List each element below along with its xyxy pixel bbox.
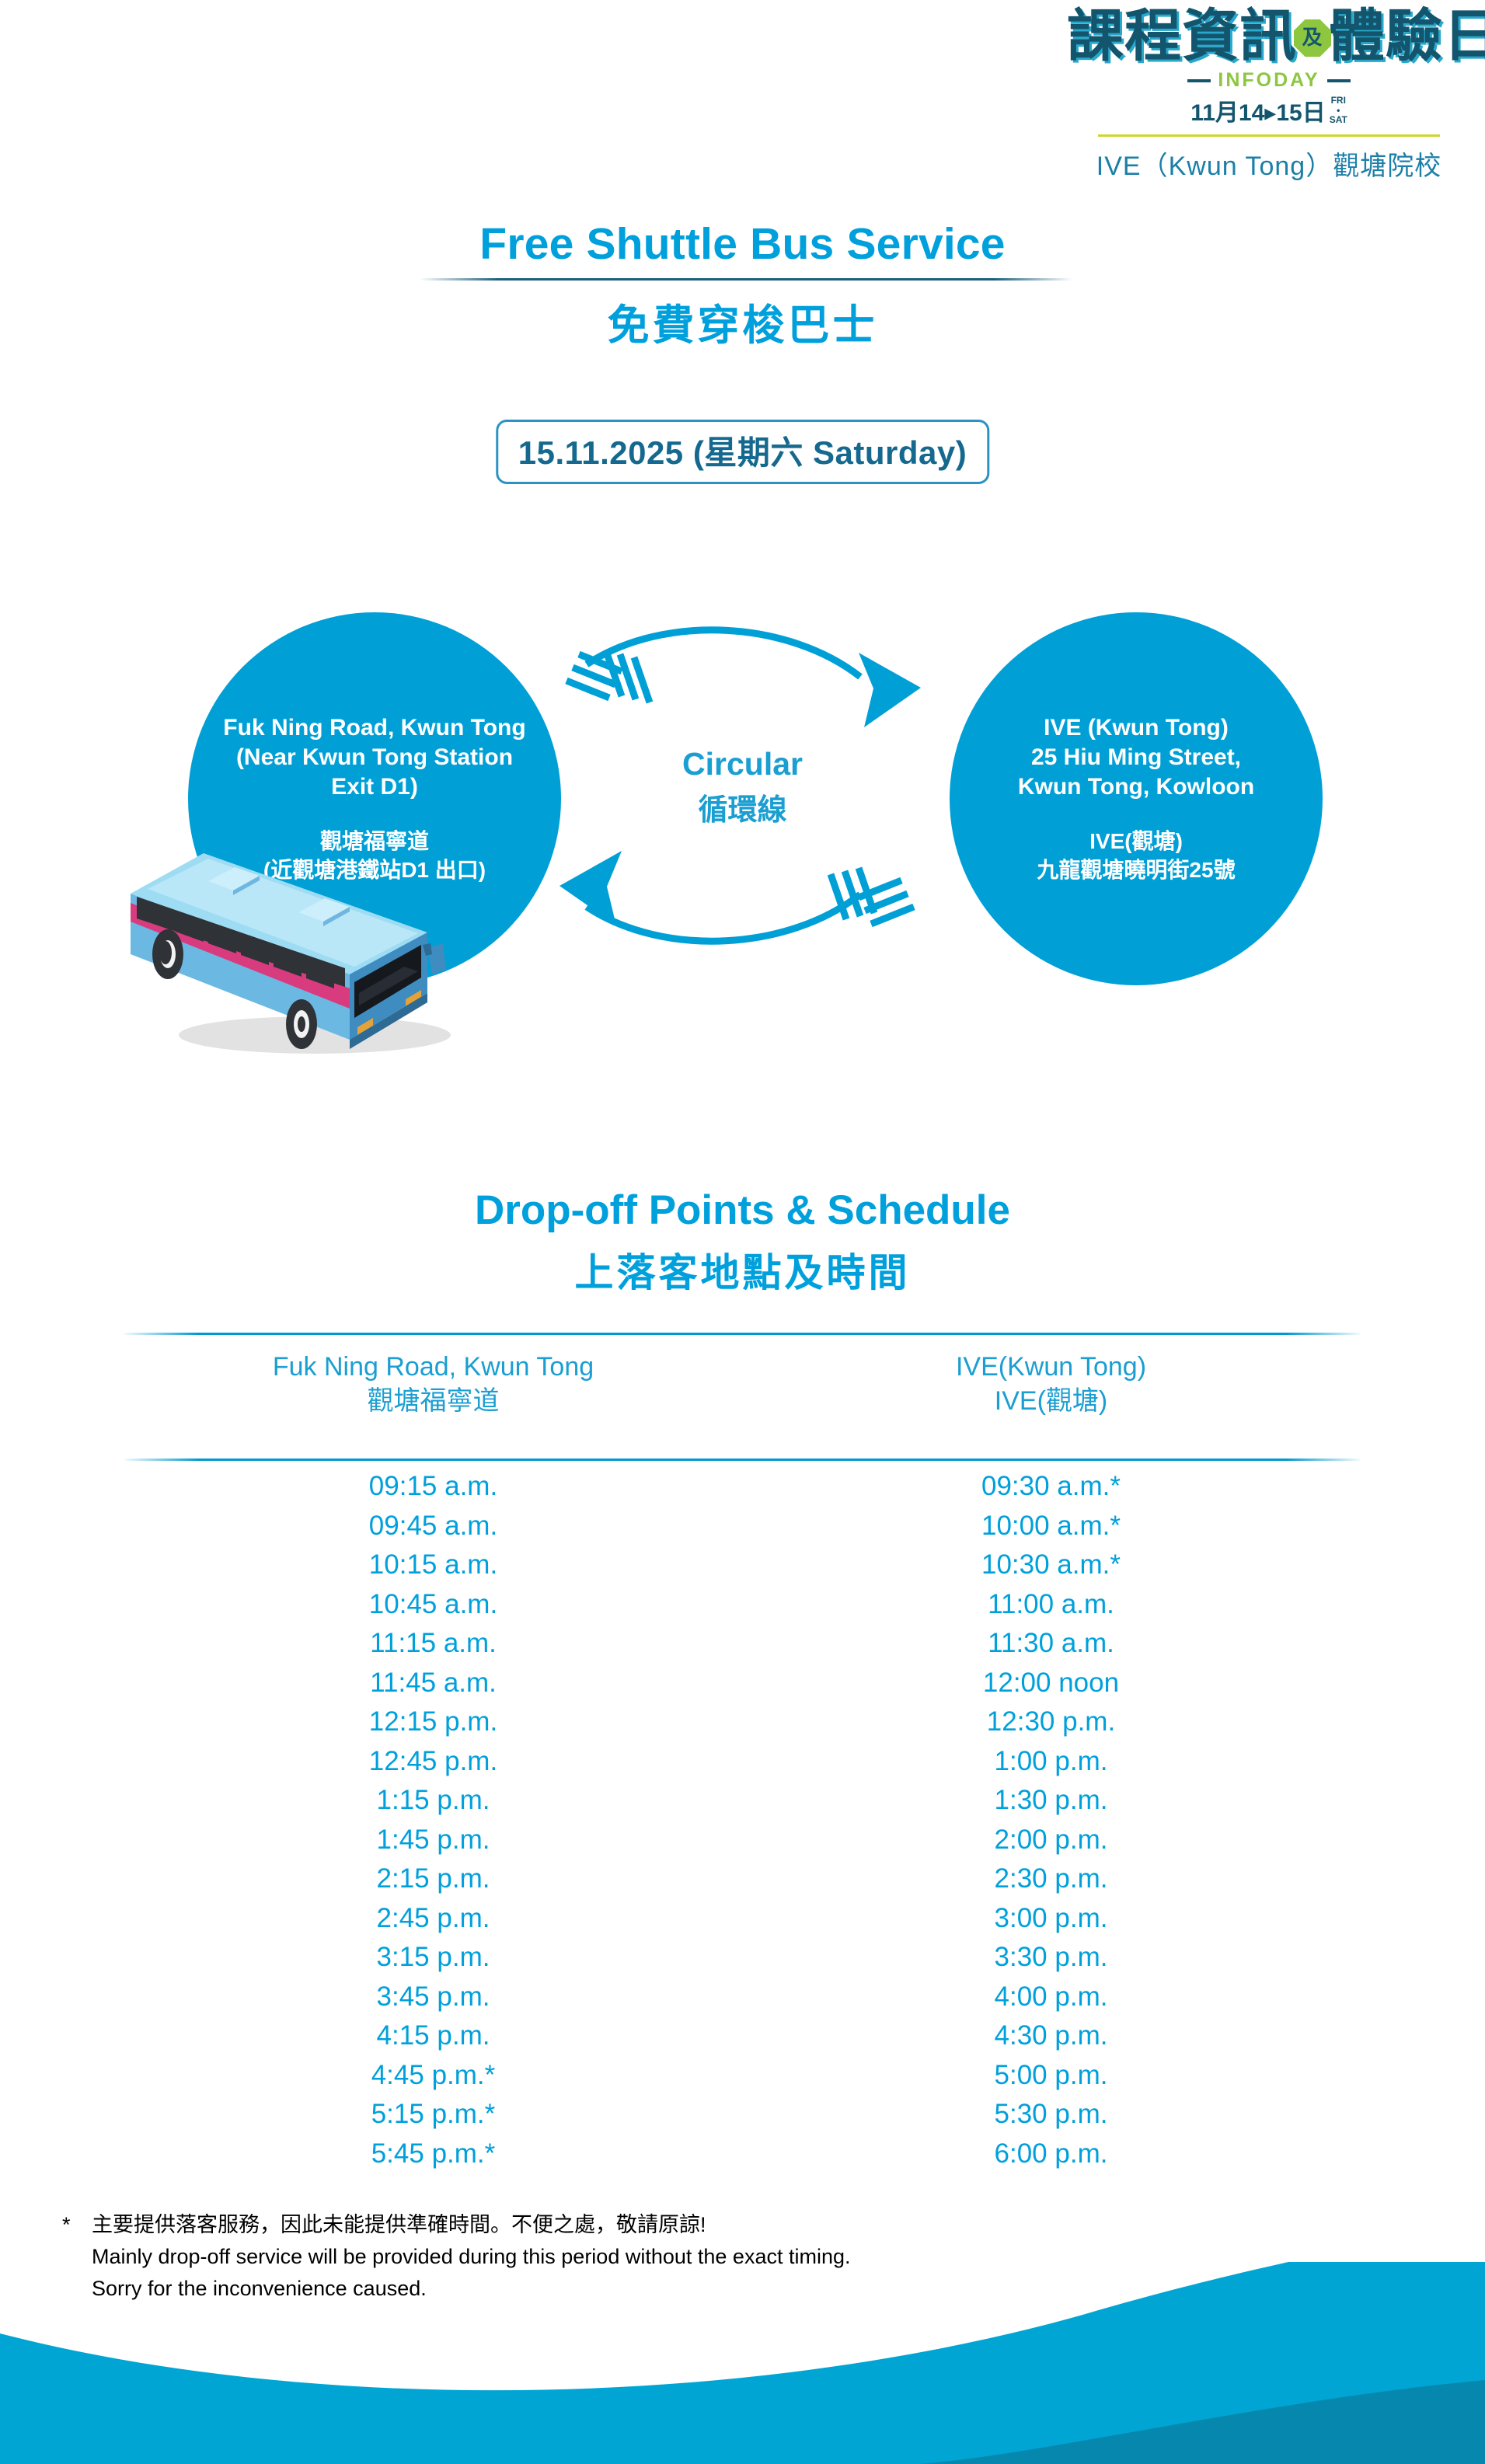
time-cell: 10:45 a.m. [124, 1585, 742, 1625]
logo-rule-right-icon [1327, 79, 1351, 82]
time-cell: 4:30 p.m. [742, 2016, 1360, 2056]
logo-dates-text: 11月14▸15日 [1190, 93, 1326, 127]
service-date-badge: 15.11.2025 (星期六 Saturday) [496, 420, 989, 484]
logo-day-abbrs: FRI • SAT [1330, 96, 1347, 125]
time-cell: 4:45 p.m.* [124, 2056, 742, 2096]
column-header-left-en: Fuk Ning Road, Kwun Tong [124, 1350, 742, 1385]
time-cell: 10:00 a.m.* [742, 1507, 1360, 1546]
time-cell: 4:15 p.m. [124, 2016, 742, 2056]
time-cell: 3:30 p.m. [742, 1938, 1360, 1978]
time-cell: 10:15 a.m. [124, 1546, 742, 1585]
stop-right-en-line1: IVE (Kwun Tong) [1018, 713, 1254, 743]
time-cell: 5:15 p.m.* [124, 2095, 742, 2135]
shuttle-bus-poster: 課程資訊及體驗日 INFODAY 11月14▸15日 FRI • SAT IVE… [0, 0, 1485, 2464]
arrow-clockwise-top-icon [566, 630, 921, 727]
page-title-english: Free Shuttle Bus Service [0, 218, 1485, 270]
column-header-left-cn: 觀塘福寧道 [124, 1385, 742, 1419]
campus-name: IVE（Kwun Tong）觀塘院校 [1067, 145, 1471, 183]
logo-day-fri: FRI [1330, 96, 1347, 106]
time-cell: 1:15 p.m. [124, 1781, 742, 1821]
time-cell: 5:30 p.m. [742, 2095, 1360, 2135]
time-cell: 1:30 p.m. [742, 1781, 1360, 1821]
time-cell: 2:15 p.m. [124, 1859, 742, 1899]
logo-title-left: 課程資訊 [1067, 3, 1297, 69]
column-header-fuk-ning-road: Fuk Ning Road, Kwun Tong 觀塘福寧道 [124, 1350, 742, 1418]
column-header-right-cn: IVE(觀塘) [742, 1385, 1360, 1419]
bus-illustration-icon [117, 802, 474, 1066]
schedule-title-chinese: 上落客地點及時間 [0, 1242, 1485, 1298]
schedule-table-header-rule [124, 1459, 1360, 1461]
time-cell: 3:00 p.m. [742, 1899, 1360, 1939]
time-cell: 09:45 a.m. [124, 1507, 742, 1546]
logo-infoday-text: INFODAY [1218, 69, 1319, 92]
logo-divider [1098, 134, 1440, 137]
time-cell: 12:30 p.m. [742, 1702, 1360, 1742]
schedule-table-top-rule [124, 1333, 1360, 1335]
time-cell: 10:30 a.m.* [742, 1546, 1360, 1585]
time-cell: 2:45 p.m. [124, 1899, 742, 1939]
logo-day-sat: SAT [1330, 115, 1347, 125]
time-cell: 09:15 a.m. [124, 1467, 742, 1507]
stop-right-chinese: IVE(觀塘) 九龍觀塘曉明街25號 [1037, 828, 1235, 884]
route-diagram: Fuk Ning Road, Kwun Tong (Near Kwun Tong… [0, 544, 1485, 1088]
time-cell: 09:30 a.m.* [742, 1467, 1360, 1507]
column-header-ive: IVE(Kwun Tong) IVE(觀塘) [742, 1350, 1360, 1418]
time-cell: 2:30 p.m. [742, 1859, 1360, 1899]
time-cell: 11:15 a.m. [124, 1624, 742, 1664]
time-cell: 4:00 p.m. [742, 1978, 1360, 2017]
stop-right-cn-line1: IVE(觀塘) [1037, 828, 1235, 856]
time-cell: 2:00 p.m. [742, 1821, 1360, 1860]
route-type-english: Circular [0, 746, 1485, 782]
time-cell: 6:00 p.m. [742, 2135, 1360, 2174]
time-cell: 3:45 p.m. [124, 1978, 742, 2017]
time-cell: 5:00 p.m. [742, 2056, 1360, 2096]
footnote-chinese: 主要提供落客服務，因此未能提供準確時間。不便之處，敬請原諒! [92, 2209, 850, 2241]
schedule-column-right: 09:30 a.m.* 10:00 a.m.* 10:30 a.m.* 11:0… [742, 1467, 1360, 2173]
arrow-clockwise-bottom-icon [559, 851, 914, 941]
logo-infoday-row: INFODAY [1067, 69, 1471, 92]
logo-rule-left-icon [1187, 79, 1211, 82]
schedule-title-english: Drop-off Points & Schedule [0, 1187, 1485, 1234]
time-cell: 3:15 p.m. [124, 1938, 742, 1978]
infoday-logo-block: 課程資訊及體驗日 INFODAY 11月14▸15日 FRI • SAT IVE… [1067, 8, 1471, 183]
logo-chinese-title: 課程資訊及體驗日 [1067, 8, 1471, 64]
time-cell: 11:45 a.m. [124, 1664, 742, 1703]
time-cell: 11:00 a.m. [742, 1585, 1360, 1625]
schedule-table-header: Fuk Ning Road, Kwun Tong 觀塘福寧道 IVE(Kwun … [124, 1350, 1360, 1418]
time-cell: 12:00 noon [742, 1664, 1360, 1703]
column-header-right-en: IVE(Kwun Tong) [742, 1350, 1360, 1385]
page-title-divider [420, 278, 1072, 281]
page-title-chinese: 免費穿梭巴士 [0, 291, 1485, 352]
time-cell: 12:45 p.m. [124, 1742, 742, 1782]
schedule-table-body: 09:15 a.m. 09:45 a.m. 10:15 a.m. 10:45 a… [124, 1467, 1360, 2173]
time-cell: 11:30 a.m. [742, 1624, 1360, 1664]
time-cell: 12:15 p.m. [124, 1702, 742, 1742]
logo-amp-badge: 及 [1294, 19, 1331, 57]
time-cell: 1:45 p.m. [124, 1821, 742, 1860]
stop-left-en-line1: Fuk Ning Road, Kwun Tong [223, 713, 525, 743]
time-cell: 1:00 p.m. [742, 1742, 1360, 1782]
stop-right-cn-line2: 九龍觀塘曉明街25號 [1037, 856, 1235, 884]
schedule-column-left: 09:15 a.m. 09:45 a.m. 10:15 a.m. 10:45 a… [124, 1467, 742, 2173]
logo-dates-row: 11月14▸15日 FRI • SAT [1067, 93, 1471, 127]
time-cell: 5:45 p.m.* [124, 2135, 742, 2174]
logo-title-right: 體驗日 [1328, 3, 1485, 69]
bottom-wave-decoration [0, 2262, 1485, 2464]
